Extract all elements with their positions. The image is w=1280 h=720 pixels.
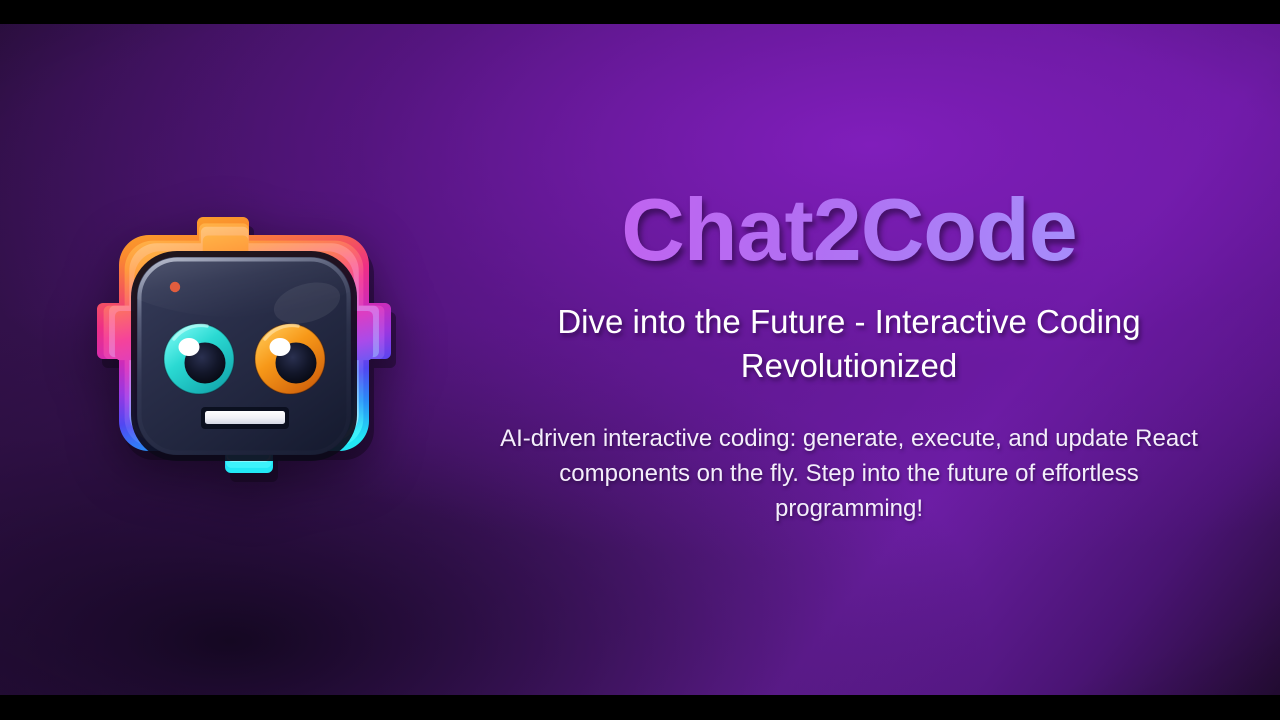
hero-banner: Chat2Code Dive into the Future - Interac… — [0, 24, 1280, 695]
hero-text-column: Chat2Code Dive into the Future - Interac… — [470, 186, 1280, 526]
page-title: Chat2Code — [476, 186, 1222, 274]
robot-eye-left — [164, 324, 234, 394]
hero-tagline: Dive into the Future - Interactive Codin… — [476, 300, 1222, 388]
screenshot-stage: Chat2Code Dive into the Future - Interac… — [0, 0, 1280, 720]
letterbox-bottom — [0, 695, 1280, 720]
robot-mouth — [201, 407, 289, 429]
hero-content: Chat2Code Dive into the Future - Interac… — [0, 24, 1280, 695]
logo-container — [0, 195, 470, 525]
hero-description: AI-driven interactive coding: generate, … — [476, 422, 1222, 526]
robot-eye-right — [255, 324, 325, 394]
status-indicator-dot — [170, 281, 180, 291]
robot-head-icon — [79, 195, 409, 525]
letterbox-top — [0, 0, 1280, 24]
